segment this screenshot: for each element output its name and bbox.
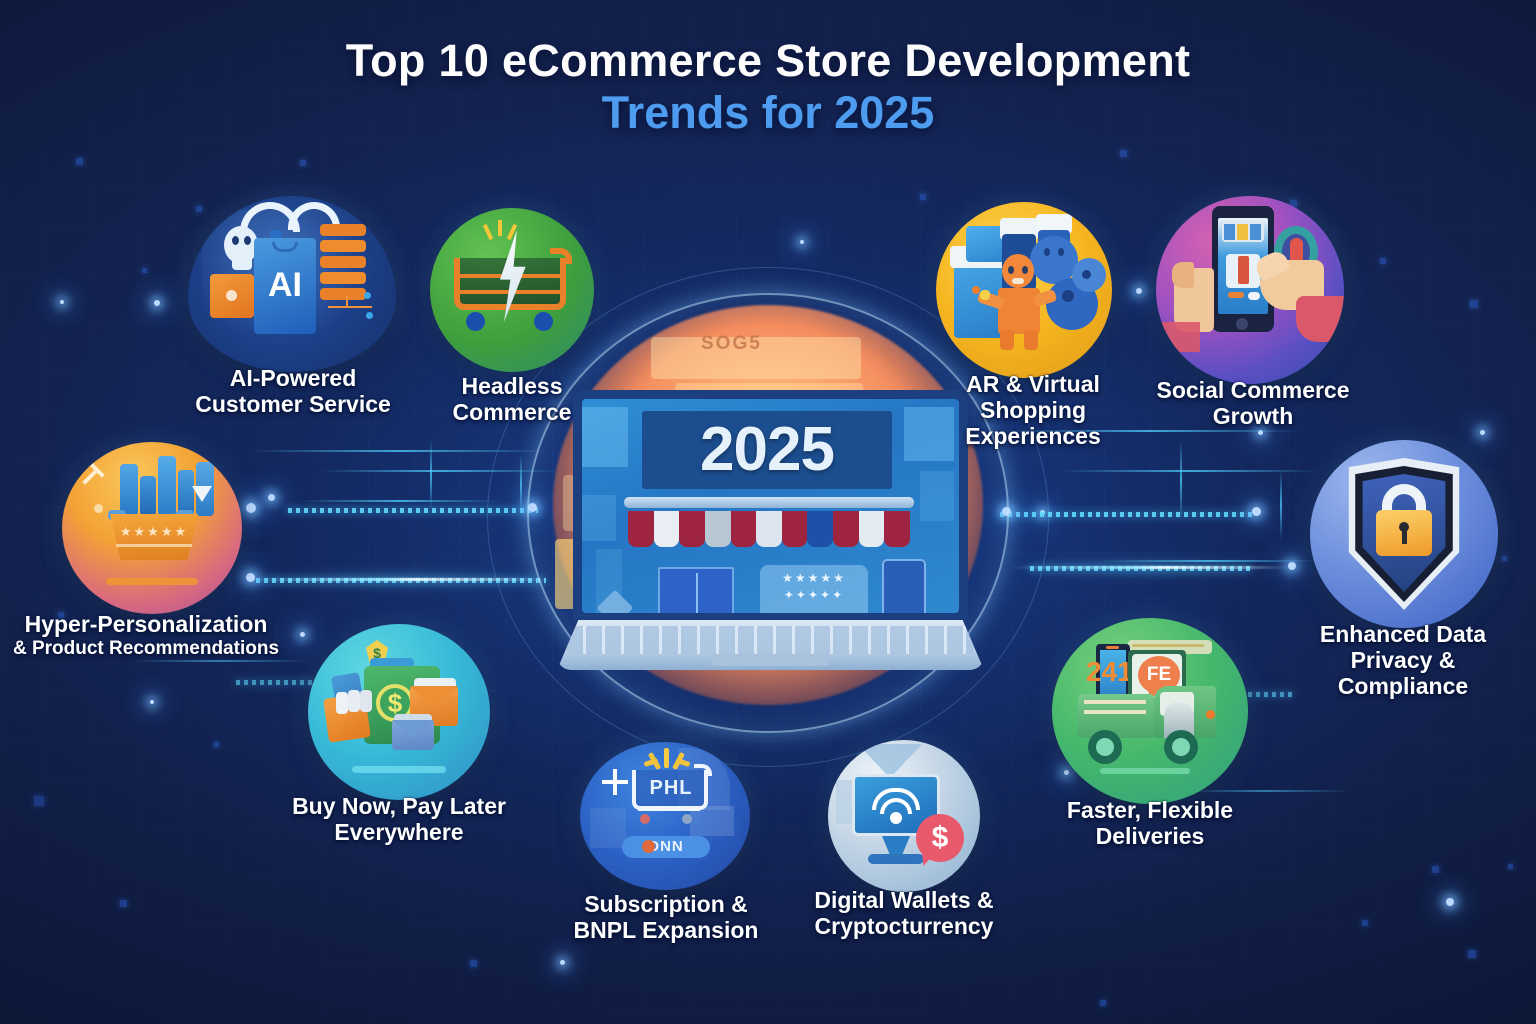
cart-text: PHL [636, 774, 706, 802]
trend-label: Headless Commerce [415, 374, 609, 426]
trend-ai-powered-customer-service[interactable]: AI AI-Powered Customer Service [188, 196, 396, 372]
laptop: 2025 ★★★★★ ✦✦✦✦✦ [573, 390, 968, 670]
cart-lightning-icon [430, 208, 594, 372]
trend-hyper-personalization[interactable]: ★★★★★ Hyper-Personalization & Product Re… [62, 442, 242, 614]
truck-badge-number: 241 [1086, 656, 1128, 688]
cart-plus-icon: PHL DNN [580, 742, 750, 890]
infographic-canvas: Top 10 eCommerce Store Development Trend… [0, 0, 1536, 1024]
trend-label: Digital Wallets & Cryptocturrency [806, 888, 1002, 940]
trend-label: AR & Virtual Shopping Experiences [948, 372, 1118, 449]
product-card [882, 559, 926, 613]
year-label: 2025 [700, 419, 834, 481]
ai-shopping-bag-icon: AI [188, 196, 396, 372]
trend-label: Faster, Flexible Deliveries [1044, 798, 1256, 850]
wallet-cash-envelope-icon: $ $ [308, 624, 490, 800]
laptop-lid: 2025 ★★★★★ ✦✦✦✦✦ [573, 390, 968, 622]
rating-panel: ★★★★★ ✦✦✦✦✦ [760, 565, 868, 613]
laptop-keyboard [567, 626, 974, 654]
trend-buy-now-pay-later[interactable]: $ $ Buy Now, Pay Later Everywhere [308, 624, 490, 800]
trend-label-line1: Hyper-Personalization [0, 612, 296, 638]
trend-label: Enhanced Data Privacy & Compliance [1296, 622, 1510, 699]
storefront-ledge [624, 497, 914, 508]
storefront-awning [628, 511, 910, 547]
storefront-door [658, 567, 734, 613]
phone-hand-tap-icon [1156, 196, 1344, 384]
laptop-screen: 2025 ★★★★★ ✦✦✦✦✦ [582, 399, 959, 613]
monitor-wifi-dollar-icon: $ [828, 740, 980, 892]
trend-label: AI-Powered Customer Service [183, 366, 403, 418]
trend-digital-wallets-crypto[interactable]: $ Digital Wallets & Cryptocturrency [828, 740, 980, 892]
trend-label: Social Commerce Growth [1148, 378, 1358, 430]
basket-chart-stars-icon: ★★★★★ [62, 442, 242, 614]
trend-subscription-bnpl[interactable]: PHL DNN Subscription & BNPL Expansion [580, 742, 750, 890]
title-line-1: Top 10 eCommerce Store Development [0, 36, 1536, 86]
rating-stars-row2: ✦✦✦✦✦ [760, 587, 868, 604]
center-laptop-hero: SOG5 2025 [533, 295, 1003, 715]
storefront-signboard: 2025 [642, 411, 892, 489]
trend-ar-virtual-shopping[interactable]: AR & Virtual Shopping Experiences [936, 202, 1112, 378]
trend-label: Buy Now, Pay Later Everywhere [282, 794, 516, 846]
basket-stars: ★★★★★ [110, 524, 198, 540]
trend-social-commerce-growth[interactable]: Social Commerce Growth [1156, 196, 1344, 384]
laptop-base [557, 620, 984, 670]
trend-label-line2: & Product Recommendations [0, 638, 298, 659]
trend-enhanced-data-privacy[interactable]: Enhanced Data Privacy & Compliance [1310, 440, 1498, 628]
delivery-truck-icon: 241 FE [1052, 618, 1248, 804]
shield-lock-icon [1310, 440, 1498, 628]
ar-figures-icon [936, 202, 1112, 378]
trend-faster-flexible-deliveries[interactable]: 241 FE Faster, Flexible Deliveries [1052, 618, 1248, 804]
trend-headless-commerce[interactable]: Headless Commerce [430, 208, 594, 372]
laptop-trackpad [711, 654, 831, 666]
trend-label: Subscription & BNPL Expansion [560, 892, 772, 944]
bnpl-button-text: DNN [622, 838, 710, 856]
infographic-title: Top 10 eCommerce Store Development Trend… [0, 36, 1536, 140]
rating-stars-row1: ★★★★★ [760, 570, 868, 587]
title-line-2: Trends for 2025 [0, 86, 1536, 140]
